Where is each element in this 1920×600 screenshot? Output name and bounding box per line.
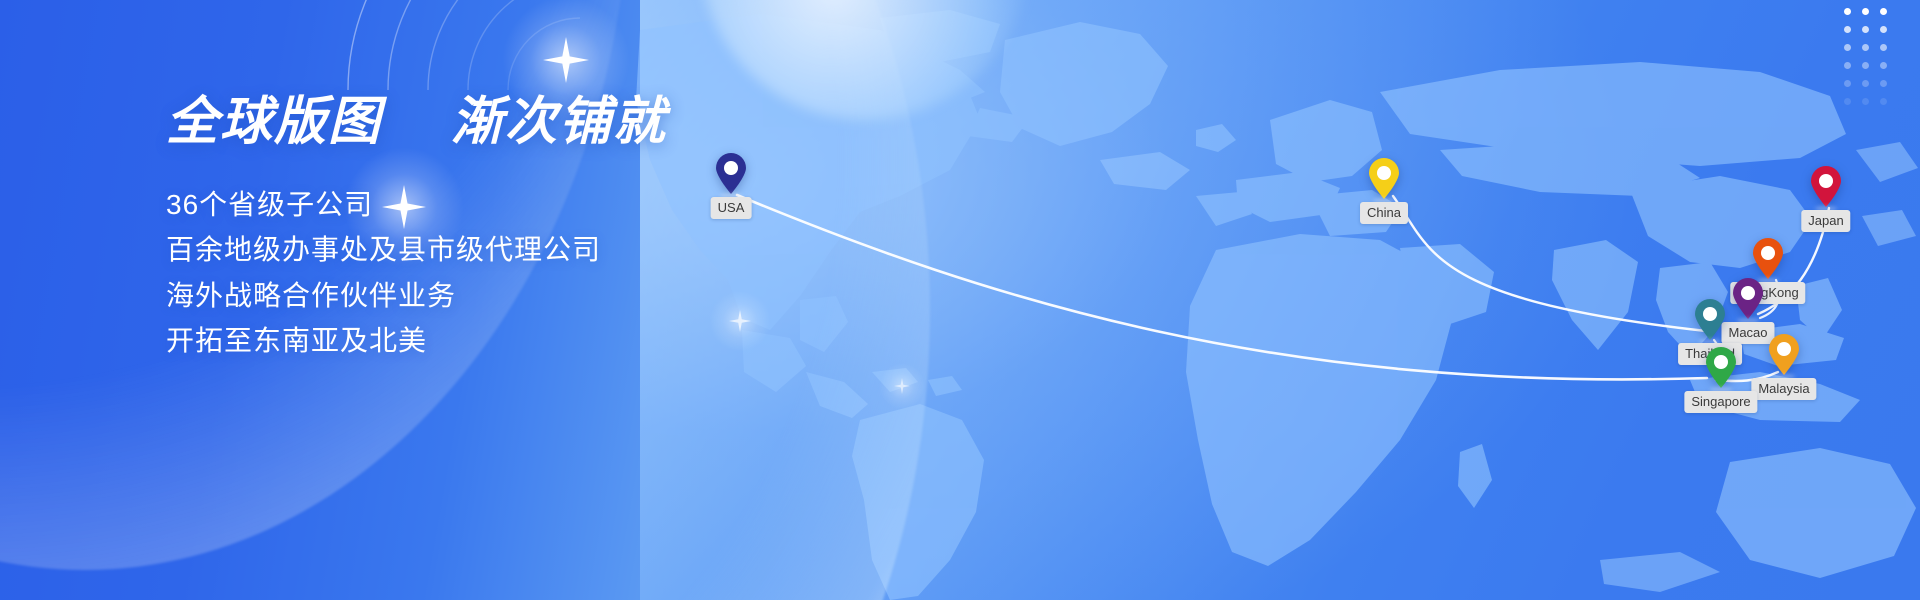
marker-label-china: China [1360, 202, 1408, 224]
map-marker-hongkong[interactable]: HongKong [1752, 238, 1784, 280]
map-marker-singapore[interactable]: Singapore [1705, 347, 1737, 389]
location-pin-icon [1694, 299, 1726, 341]
location-pin-icon [1705, 347, 1737, 389]
title-part-2: 渐次铺就 [451, 93, 667, 151]
map-marker-japan[interactable]: Japan [1810, 166, 1842, 208]
location-pin-icon [1768, 334, 1800, 376]
page-title: 全球版图 渐次铺就 [166, 96, 667, 148]
location-pin-icon [1752, 238, 1784, 280]
subtitle-line-2: 百余地级办事处及县市级代理公司 [166, 227, 667, 272]
marker-label-macao: Macao [1721, 322, 1774, 344]
marker-label-singapore: Singapore [1684, 391, 1757, 413]
marker-label-usa: USA [711, 197, 752, 219]
location-pin-icon [1732, 278, 1764, 320]
location-pin-icon [1368, 158, 1400, 200]
title-part-1: 全球版图 [166, 93, 382, 151]
map-marker-malaysia[interactable]: Malaysia [1768, 334, 1800, 376]
banner-copy: 全球版图 渐次铺就 36个省级子公司 百余地级办事处及县市级代理公司 海外战略合… [166, 96, 667, 363]
subtitle-line-3: 海外战略合作伙伴业务 [166, 273, 667, 318]
marker-label-malaysia: Malaysia [1751, 378, 1816, 400]
map-marker-macao[interactable]: Macao [1732, 278, 1764, 320]
map-marker-thailand[interactable]: Thailand [1694, 299, 1726, 341]
location-pin-icon [1810, 166, 1842, 208]
subtitle-line-4: 开拓至东南亚及北美 [166, 318, 667, 363]
location-pin-icon [715, 153, 747, 195]
dot-grid-decoration [1844, 8, 1894, 112]
subtitle-line-1: 36个省级子公司 [166, 182, 667, 227]
global-map-banner: 全球版图 渐次铺就 36个省级子公司 百余地级办事处及县市级代理公司 海外战略合… [0, 0, 1920, 600]
map-marker-usa[interactable]: USA [715, 153, 747, 195]
map-marker-china[interactable]: China [1368, 158, 1400, 200]
subtitle-list: 36个省级子公司 百余地级办事处及县市级代理公司 海外战略合作伙伴业务 开拓至东… [166, 182, 667, 363]
marker-label-japan: Japan [1801, 210, 1850, 232]
